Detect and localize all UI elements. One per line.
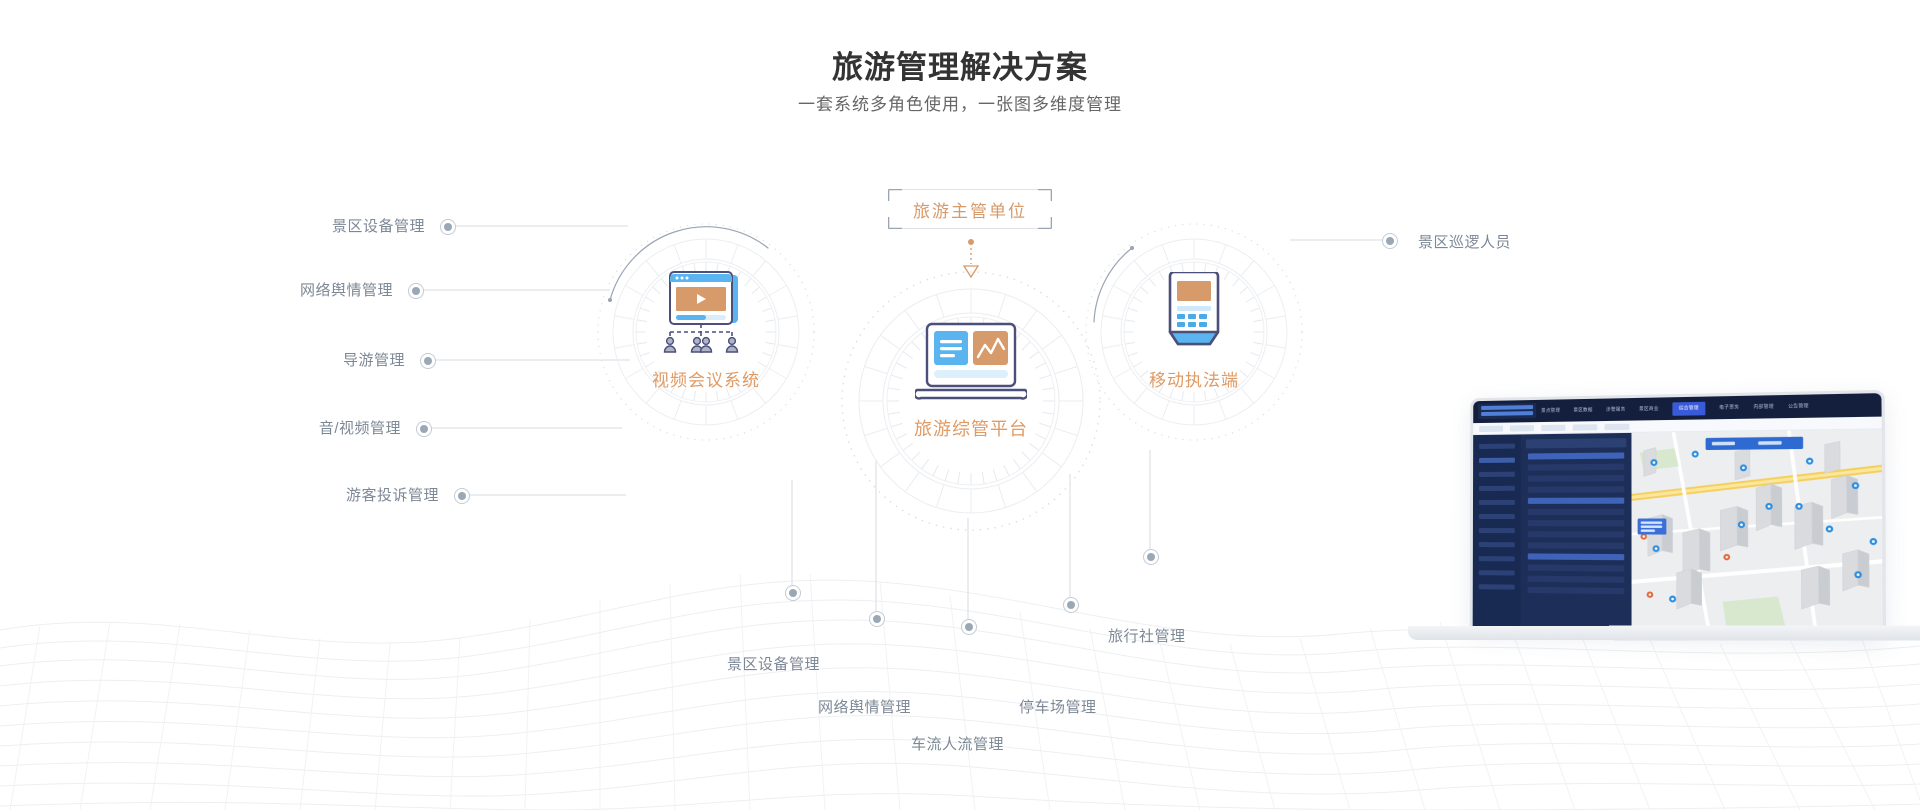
tab-chip[interactable] (1479, 425, 1503, 431)
left-node-dot-1 (408, 283, 424, 299)
panel-row[interactable] (1528, 531, 1624, 537)
node-circle-mobile-enforcement: 移动执法端 (1084, 222, 1304, 442)
panel-header (1526, 438, 1626, 448)
right-leader-lines (1290, 230, 1420, 250)
sidebar-item[interactable] (1479, 528, 1515, 533)
node-circle-tourism-platform: 旅游综管平台 (840, 270, 1102, 532)
sidebar-item[interactable] (1479, 556, 1515, 561)
bottom-node-dot-2 (961, 619, 977, 635)
panel-row[interactable] (1528, 587, 1624, 594)
app-filter-panel[interactable] (1521, 433, 1632, 631)
handheld-terminal-icon (1162, 272, 1226, 356)
page-subtitle: 一套系统多角色使用，一张图多维度管理 (0, 90, 1920, 115)
bottom-label-2: 车流人流管理 (911, 733, 1004, 754)
panel-row[interactable] (1528, 553, 1624, 560)
panel-row[interactable] (1528, 464, 1624, 471)
panel-row[interactable] (1528, 520, 1624, 526)
laptop-screen: 景点管理 景区数据 涉警服务 景区商业 综合管理 电子票务 内部管理 公告管理 (1470, 390, 1886, 639)
laptop-mockup: 景点管理 景区数据 涉警服务 景区商业 综合管理 电子票务 内部管理 公告管理 (1408, 398, 1908, 658)
authority-connector-arrow (958, 238, 984, 282)
menu-item-2[interactable]: 涉警服务 (1606, 406, 1625, 412)
right-label-0: 景区巡逻人员 (1418, 231, 1511, 252)
map-canvas (1631, 429, 1882, 635)
left-node-dot-0 (440, 219, 456, 235)
bottom-node-dot-4 (1143, 549, 1159, 565)
app-map-view[interactable] (1631, 429, 1882, 635)
laptop-dashboard-icon (915, 322, 1027, 406)
tab-chip[interactable] (1573, 424, 1598, 430)
panel-row[interactable] (1528, 542, 1624, 549)
left-label-4: 游客投诉管理 (224, 484, 439, 505)
sidebar-item[interactable] (1479, 500, 1515, 505)
menu-item-0[interactable]: 景点管理 (1541, 408, 1560, 414)
panel-row[interactable] (1528, 486, 1624, 493)
left-label-0: 景区设备管理 (210, 215, 425, 236)
bottom-label-3: 停车场管理 (1019, 696, 1097, 717)
right-node-dot-0 (1382, 233, 1398, 249)
menu-item-6[interactable]: 内部管理 (1753, 404, 1773, 411)
sidebar-item[interactable] (1479, 486, 1515, 491)
bottom-node-dot-0 (785, 585, 801, 601)
node-circle-video-conference: 视频会议系统 (596, 222, 816, 442)
menu-item-3[interactable]: 景区商业 (1639, 406, 1659, 413)
menu-item-7[interactable]: 公告管理 (1788, 403, 1809, 410)
bottom-node-dot-3 (1063, 597, 1079, 613)
page-title: 旅游管理解决方案 (0, 42, 1920, 87)
left-node-dot-4 (454, 488, 470, 504)
sidebar-item[interactable] (1479, 458, 1515, 463)
panel-row[interactable] (1528, 498, 1624, 504)
sidebar-item[interactable] (1479, 570, 1515, 575)
left-node-dot-3 (416, 421, 432, 437)
sidebar-item[interactable] (1479, 514, 1515, 519)
tab-chip[interactable] (1510, 425, 1534, 431)
app-logo (1478, 403, 1536, 419)
solution-diagram-page: 旅游管理解决方案 一套系统多角色使用，一张图多维度管理 旅游主管单位 (0, 0, 1920, 810)
tab-chip[interactable] (1604, 423, 1629, 430)
authority-label: 旅游主管单位 (888, 189, 1052, 229)
sidebar-item[interactable] (1479, 444, 1515, 449)
node-label-tourism-platform: 旅游综管平台 (840, 415, 1102, 441)
panel-row[interactable] (1528, 509, 1624, 515)
tab-chip[interactable] (1541, 424, 1565, 430)
app-sidebar[interactable] (1473, 434, 1521, 628)
node-label-video-conference: 视频会议系统 (596, 366, 816, 391)
sidebar-item[interactable] (1479, 472, 1515, 477)
panel-row[interactable] (1528, 565, 1624, 572)
bottom-label-0: 景区设备管理 (727, 653, 820, 674)
menu-item-4-active[interactable]: 综合管理 (1672, 401, 1705, 415)
laptop-base (1408, 625, 1920, 640)
node-label-mobile-enforcement: 移动执法端 (1084, 366, 1304, 391)
menu-item-5[interactable]: 电子票务 (1719, 404, 1739, 411)
bottom-label-4: 旅行社管理 (1108, 625, 1186, 646)
sidebar-item[interactable] (1479, 542, 1515, 547)
left-node-dot-2 (420, 353, 436, 369)
panel-row[interactable] (1528, 452, 1624, 459)
sidebar-item[interactable] (1479, 584, 1515, 589)
left-label-3: 音/视频管理 (186, 417, 401, 438)
left-label-1: 网络舆情管理 (178, 279, 393, 300)
panel-row[interactable] (1528, 475, 1624, 482)
authority-box: 旅游主管单位 (888, 189, 1052, 229)
panel-row[interactable] (1528, 576, 1624, 583)
bottom-node-dot-1 (869, 611, 885, 627)
video-window-icon (656, 270, 756, 356)
left-label-2: 导游管理 (190, 349, 405, 370)
bottom-label-1: 网络舆情管理 (818, 696, 911, 717)
menu-item-1[interactable]: 景区数据 (1573, 407, 1592, 413)
